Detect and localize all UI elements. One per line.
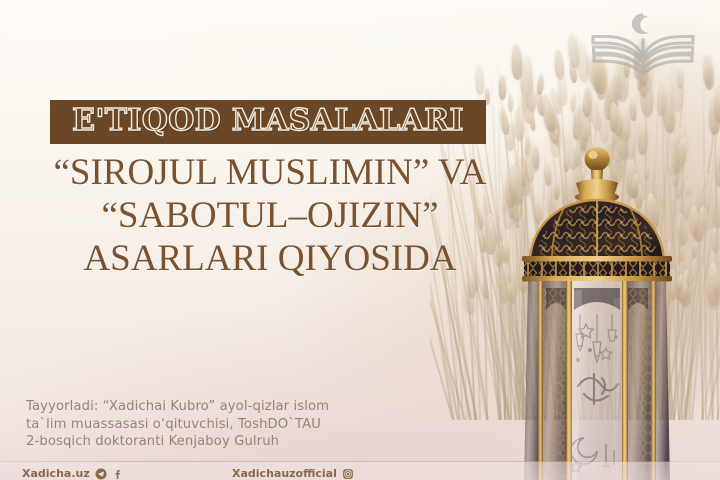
footer-handle-label: Xadichauzofficial [232, 467, 337, 480]
credit-paragraph: Tayyorladi: “Xadichai Kubro” ayol-qizlar… [26, 398, 446, 451]
footer-handle-label: Xadicha.uz [22, 467, 90, 480]
xadicha-logo-watermark [584, 12, 702, 78]
title-line-2: “SABOTUL–OJIZIN” [0, 195, 540, 237]
title-banner: E'TIQOD MASALALARI [50, 100, 486, 144]
facebook-icon[interactable] [112, 468, 124, 480]
title-line-3: ASARLARI QIYOSIDA [0, 238, 540, 280]
credit-line-1: Tayyorladi: “Xadichai Kubro” ayol-qizlar… [26, 398, 446, 416]
open-book-icon [593, 37, 693, 75]
title-block: E'TIQOD MASALALARI “SIROJUL MUSLIMIN” VA… [0, 100, 540, 279]
title-line-1: “SIROJUL MUSLIMIN” VA [0, 152, 540, 194]
footer-bar: Xadicha.uz Xadichauzofficial [0, 462, 720, 480]
footer-group-xadicha-uz[interactable]: Xadicha.uz [22, 467, 124, 480]
poster-canvas: E'TIQOD MASALALARI “SIROJUL MUSLIMIN” VA… [0, 0, 720, 480]
footer-group-xadichauzofficial[interactable]: Xadichauzofficial [232, 467, 354, 480]
credit-line-2: ta`lim muassasasi o‘qituvchisi, ToshDO`T… [26, 416, 446, 434]
credit-line-3: 2-bosqich doktoranti Kenjaboy Gulruh [26, 433, 446, 451]
telegram-icon[interactable] [95, 468, 107, 480]
instagram-icon[interactable] [342, 468, 354, 480]
title-banner-text: E'TIQOD MASALALARI [72, 106, 464, 136]
crescent-moon-icon [632, 14, 648, 35]
